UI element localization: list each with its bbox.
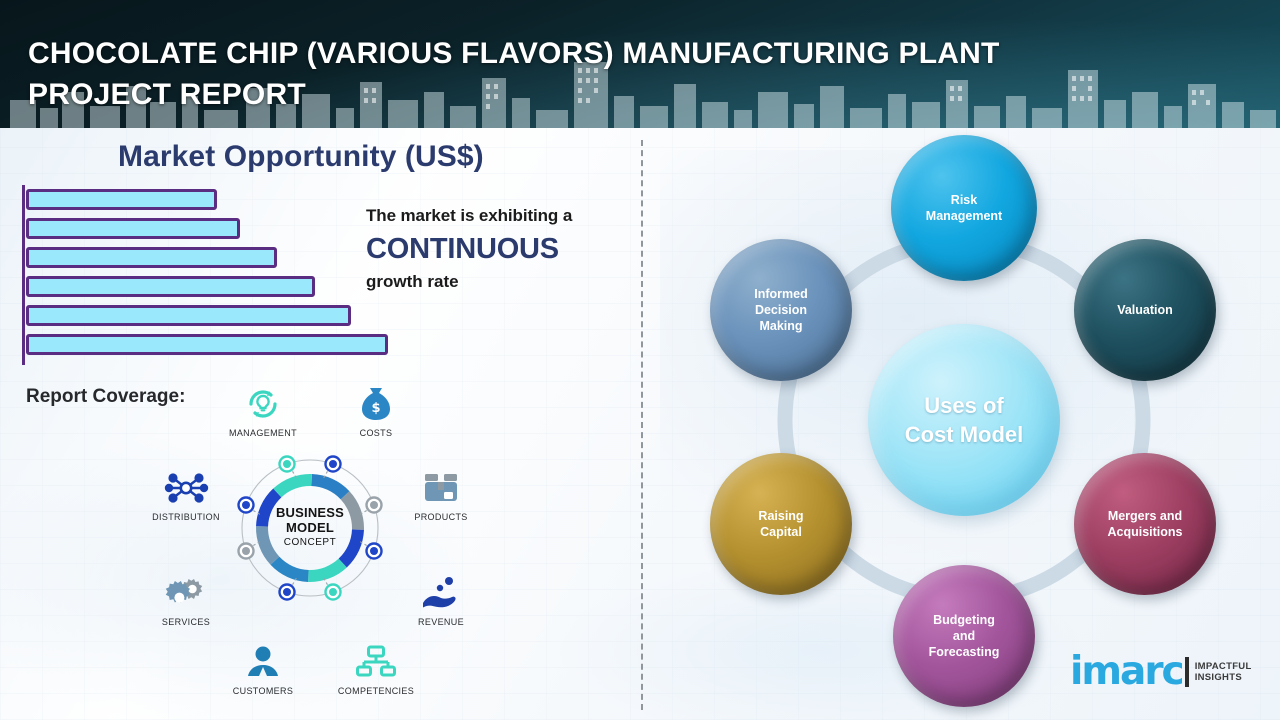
chart-bar bbox=[26, 276, 315, 297]
node-label: Valuation bbox=[1117, 302, 1173, 318]
market-statement-line1: The market is exhibiting a bbox=[366, 204, 638, 228]
node-mergers-acquisitions[interactable]: Mergers and Acquisitions bbox=[1074, 453, 1216, 595]
bm-label: CUSTOMERS bbox=[217, 686, 309, 696]
chart-bar bbox=[26, 189, 217, 210]
person-group-icon bbox=[217, 636, 309, 682]
bm-label: MANAGEMENT bbox=[217, 428, 309, 438]
node-label: Mergers and Acquisitions bbox=[1107, 508, 1182, 540]
page-title: CHOCOLATE CHIP (VARIOUS FLAVORS) MANUFAC… bbox=[28, 33, 1038, 115]
node-label: Budgeting and Forecasting bbox=[929, 612, 1000, 660]
node-informed-decision-making[interactable]: Informed Decision Making bbox=[710, 239, 852, 381]
bm-label: COMPETENCIES bbox=[330, 686, 422, 696]
business-model-diagram: MANAGEMENT $ COSTS bbox=[140, 368, 480, 698]
bm-item-revenue: REVENUE bbox=[395, 567, 487, 627]
bm-item-products: PRODUCTS bbox=[395, 462, 487, 522]
bm-label: COSTS bbox=[330, 428, 422, 438]
logo-tagline: IMPACTFUL INSIGHTS bbox=[1195, 661, 1252, 683]
market-statement-line3: growth rate bbox=[366, 270, 638, 294]
node-raising-capital[interactable]: Raising Capital bbox=[710, 453, 852, 595]
chart-bar bbox=[26, 218, 240, 239]
node-valuation[interactable]: Valuation bbox=[1074, 239, 1216, 381]
org-chart-icon bbox=[330, 636, 422, 682]
bm-center-line1: BUSINESS bbox=[235, 505, 385, 520]
node-label: Informed Decision Making bbox=[754, 286, 807, 334]
business-model-center-text: BUSINESS MODEL CONCEPT bbox=[235, 505, 385, 548]
logo-wordmark: imarc bbox=[1070, 652, 1183, 691]
bm-center-line2: MODEL bbox=[235, 520, 385, 535]
imarc-logo[interactable]: imarc IMPACTFUL INSIGHTS bbox=[1070, 652, 1252, 691]
chart-axis bbox=[22, 185, 25, 365]
bm-item-costs: $ COSTS bbox=[330, 378, 422, 438]
logo-separator bbox=[1185, 657, 1189, 687]
header-banner: CHOCOLATE CHIP (VARIOUS FLAVORS) MANUFAC… bbox=[0, 0, 1280, 128]
bm-label: PRODUCTS bbox=[395, 512, 487, 522]
bm-item-management: MANAGEMENT bbox=[217, 378, 309, 438]
bm-item-competencies: COMPETENCIES bbox=[330, 636, 422, 696]
bm-item-services: SERVICES bbox=[140, 567, 232, 627]
bm-center-line3: CONCEPT bbox=[235, 537, 385, 548]
money-bag-icon: $ bbox=[330, 378, 422, 424]
market-statement: The market is exhibiting a CONTINUOUS gr… bbox=[366, 204, 638, 294]
network-nodes-icon bbox=[140, 462, 232, 508]
chart-bar bbox=[26, 247, 277, 268]
box-package-icon bbox=[395, 462, 487, 508]
bm-label: REVENUE bbox=[395, 617, 487, 627]
node-label: Raising Capital bbox=[758, 508, 803, 540]
bm-item-customers: CUSTOMERS bbox=[217, 636, 309, 696]
business-model-ring: BUSINESS MODEL CONCEPT bbox=[235, 453, 385, 603]
gears-icon bbox=[140, 567, 232, 613]
market-opportunity-title: Market Opportunity (US$) bbox=[118, 140, 484, 174]
chart-bar bbox=[26, 305, 351, 326]
node-budgeting-forecasting[interactable]: Budgeting and Forecasting bbox=[893, 565, 1035, 707]
slide-canvas: CHOCOLATE CHIP (VARIOUS FLAVORS) MANUFAC… bbox=[0, 0, 1280, 720]
bm-item-distribution: DISTRIBUTION bbox=[140, 462, 232, 522]
node-risk-management[interactable]: Risk Management bbox=[891, 135, 1037, 281]
node-center-uses-of-cost-model[interactable]: Uses of Cost Model bbox=[868, 324, 1060, 516]
hand-coins-icon bbox=[395, 567, 487, 613]
bm-label: SERVICES bbox=[140, 617, 232, 627]
node-center-label: Uses of Cost Model bbox=[905, 391, 1024, 449]
svg-text:$: $ bbox=[371, 401, 380, 416]
uses-of-cost-model-diagram: Risk Management Valuation Mergers and Ac… bbox=[640, 128, 1280, 720]
market-statement-emphasis: CONTINUOUS bbox=[366, 228, 638, 270]
bm-label: DISTRIBUTION bbox=[140, 512, 232, 522]
node-label: Risk Management bbox=[926, 192, 1002, 224]
market-opportunity-bar-chart bbox=[22, 185, 402, 365]
lightbulb-recycle-icon bbox=[217, 378, 309, 424]
chart-bar bbox=[26, 334, 388, 355]
